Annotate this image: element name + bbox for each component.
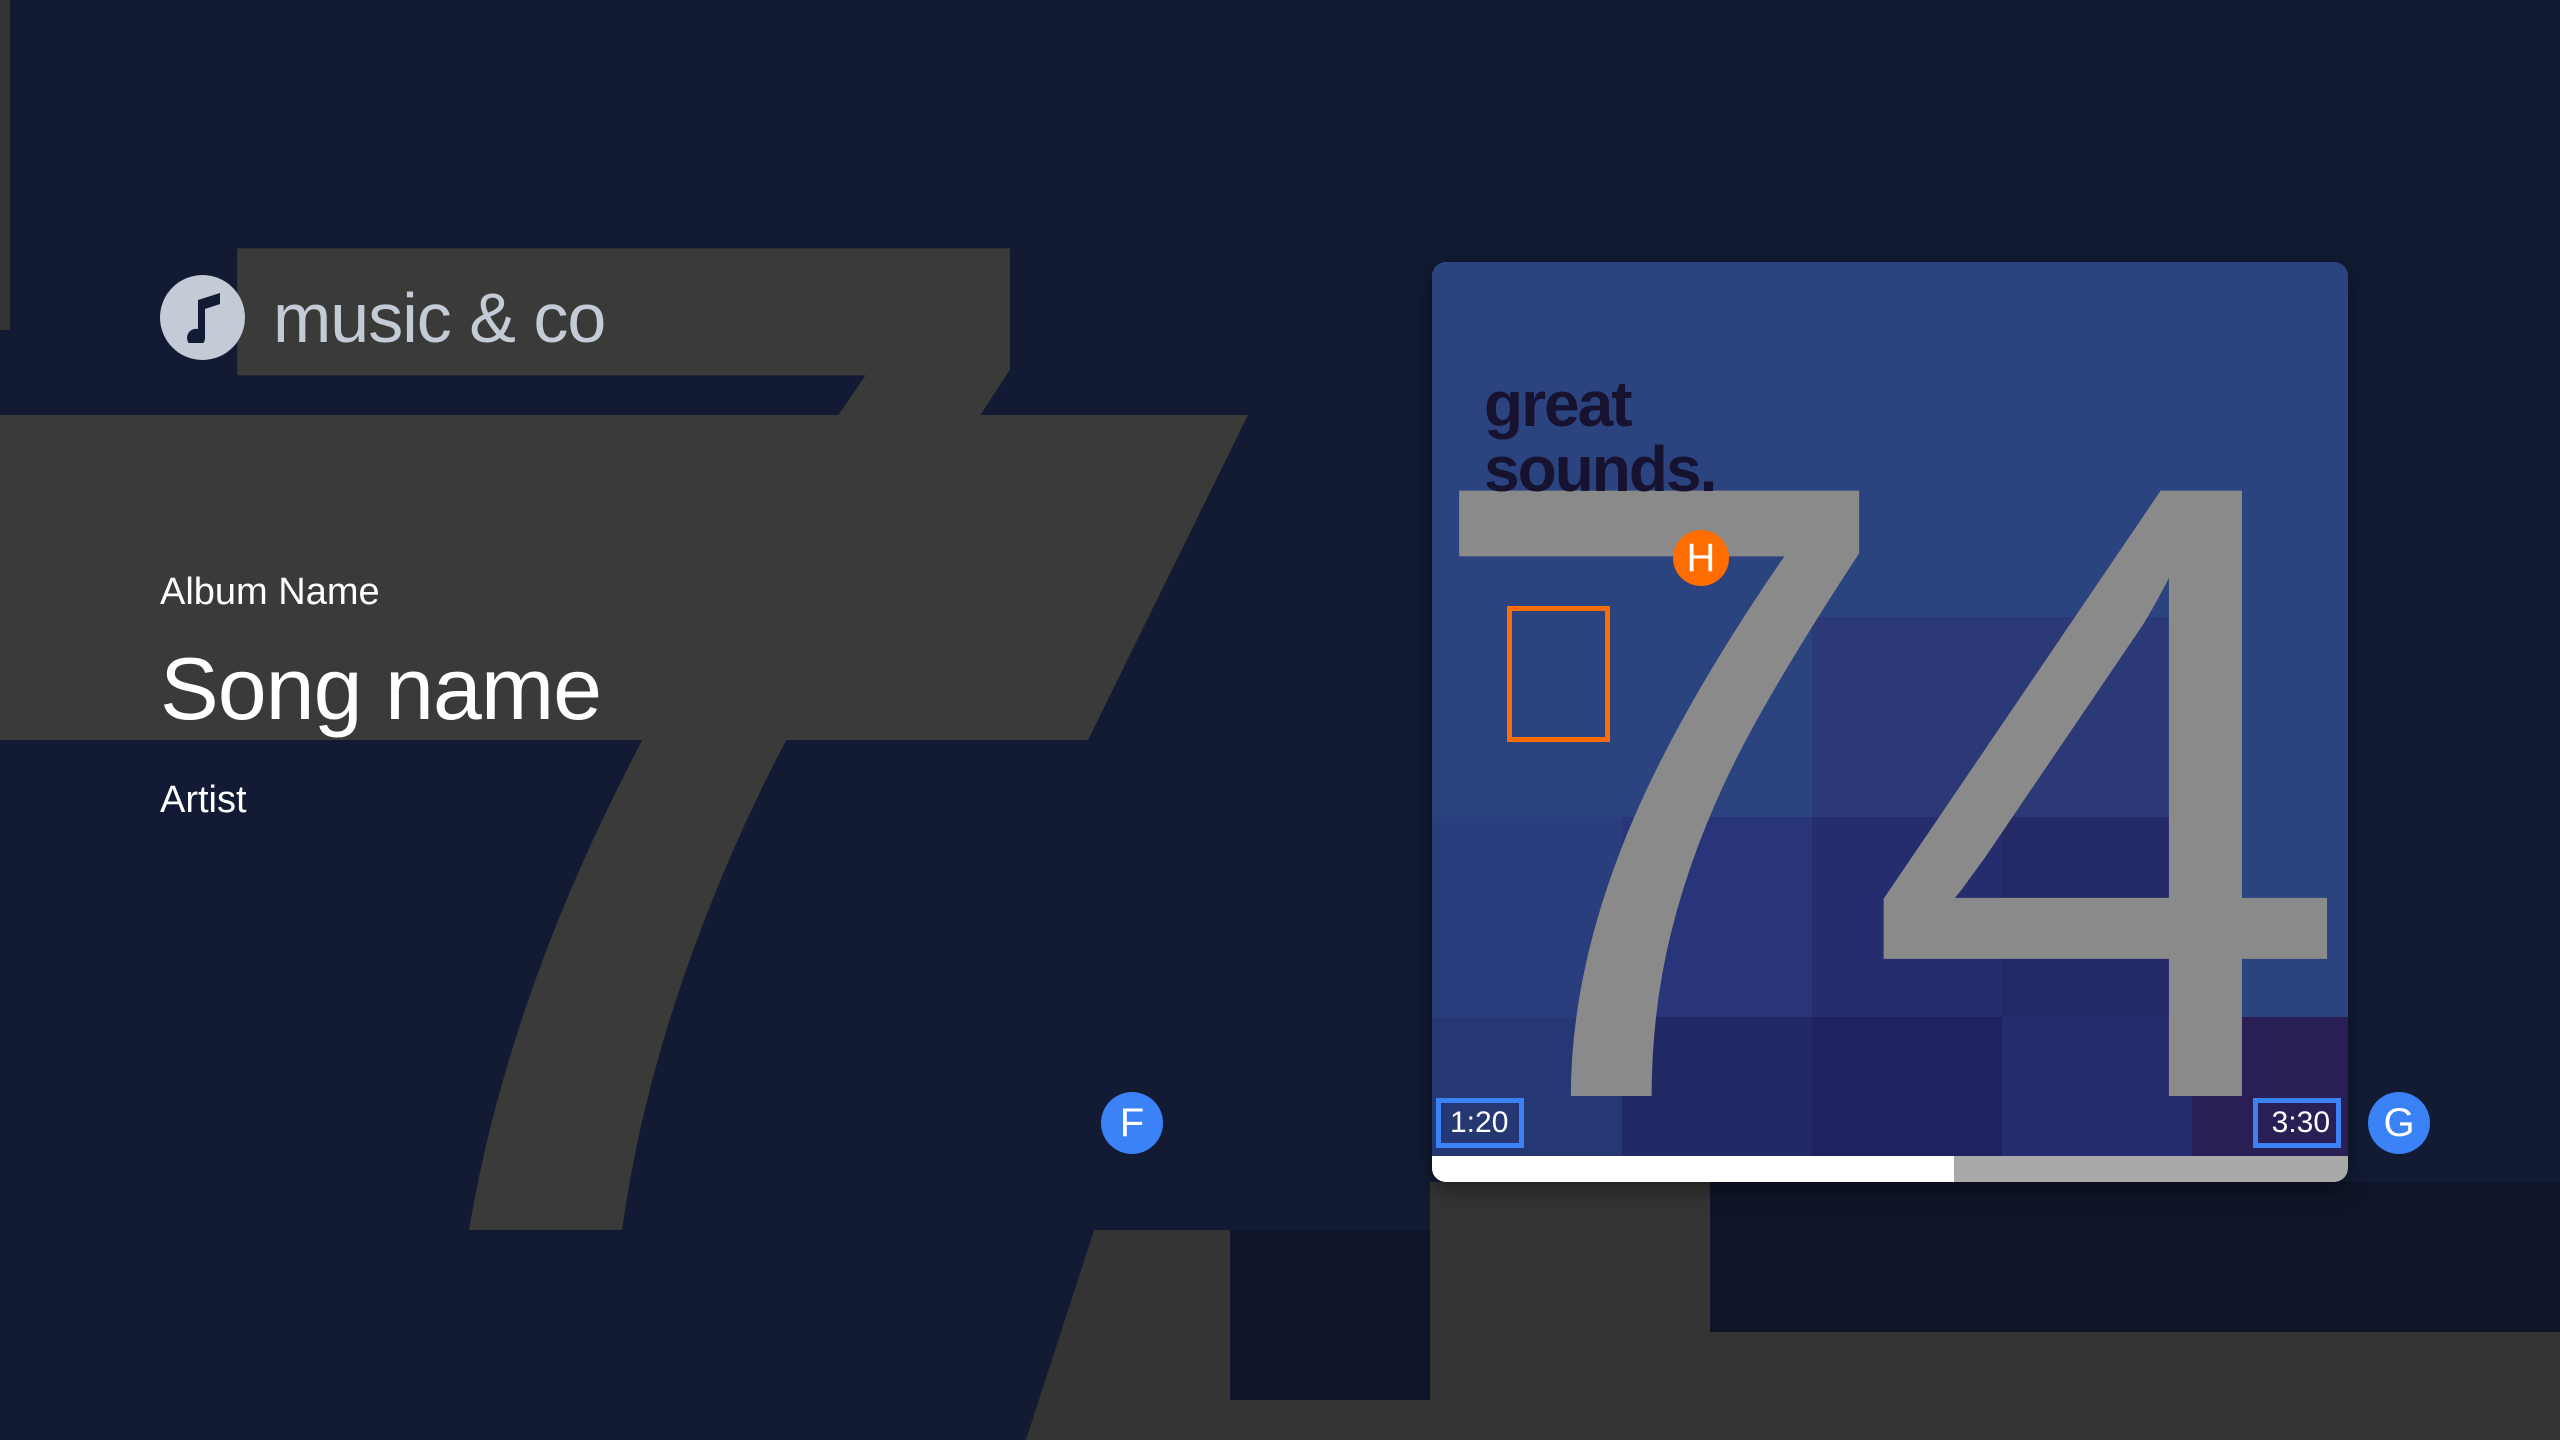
total-time-highlight (2253, 1098, 2341, 1148)
pause-button-highlight (1507, 606, 1610, 742)
bg-mask-b (0, 1230, 740, 1440)
artist-name: Artist (160, 779, 1060, 822)
bg-four-gap2 (2230, 1182, 2560, 1332)
album-art-title: great sounds. (1484, 372, 1715, 503)
album-art-big-number: 74 (1432, 412, 2348, 1172)
music-note-icon (160, 275, 245, 360)
annotation-badge-f: F (1101, 1092, 1163, 1154)
bg-four-stem (1430, 1182, 1710, 1440)
album-name: Album Name (160, 570, 1060, 616)
music-player-screen: 7 music & co Album Name Song name Artist (0, 0, 2560, 1440)
progress-bar-fill (1432, 1156, 1954, 1182)
brand-name: music & co (273, 283, 605, 353)
album-art-title-line2: sounds. (1484, 433, 1715, 505)
album-art-title-line1: great (1484, 368, 1631, 440)
progress-bar[interactable] (1432, 1156, 2348, 1182)
bg-four-counter (1230, 1230, 1430, 1400)
annotation-badge-h: H (1673, 530, 1729, 586)
bg-four-gap (1710, 1182, 2230, 1332)
song-title: Song name (160, 638, 1060, 739)
annotation-badge-g: G (2368, 1092, 2430, 1154)
brand-logo[interactable]: music & co (160, 275, 605, 360)
now-playing-info: Album Name Song name Artist (160, 570, 1060, 822)
current-time-highlight (1436, 1098, 1524, 1148)
now-playing-panel-notch (1088, 415, 1248, 740)
